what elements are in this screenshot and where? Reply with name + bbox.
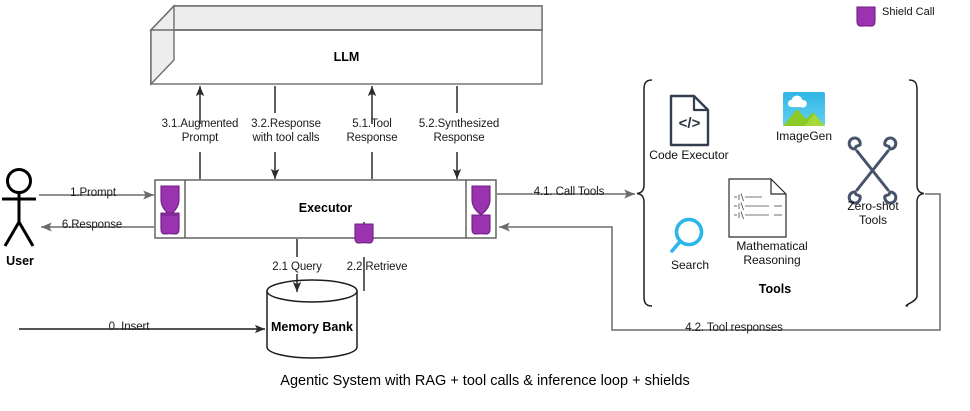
user-node-label: User bbox=[0, 254, 40, 268]
tools-brace-left bbox=[637, 80, 652, 306]
flow-label-synthesized-response: 5.2.Synthesized Response bbox=[405, 118, 513, 145]
formula-document-icon bbox=[729, 179, 786, 237]
shield-icon-executor-memory-bottom bbox=[355, 224, 373, 243]
tool-label-imagegen: ImageGen bbox=[769, 129, 839, 143]
tools-group-label: Tools bbox=[720, 282, 830, 296]
tool-label-mathematical-reasoning: Mathematical Reasoning bbox=[712, 239, 832, 267]
flow-label-response: 6.Response bbox=[46, 219, 138, 233]
memory-bank-node-label: Memory Bank bbox=[267, 320, 357, 334]
llm-node-label: LLM bbox=[151, 50, 542, 64]
flow-label-call-tools: 4.1. Call Tools bbox=[525, 186, 613, 200]
code-document-icon: </> bbox=[671, 96, 708, 145]
shield-icon-legend bbox=[857, 7, 875, 26]
flow-label-tool-response: 5.1.Tool Response bbox=[330, 118, 414, 145]
flow-label-retrieve: 2.2 Retrieve bbox=[331, 261, 423, 275]
tools-brace-right bbox=[906, 80, 924, 306]
user-stick-figure bbox=[2, 170, 36, 247]
shield-icon-executor-output-bottom bbox=[472, 215, 490, 234]
image-picture-icon bbox=[783, 92, 825, 126]
crossed-wrenches-icon bbox=[849, 138, 896, 203]
tool-label-search: Search bbox=[655, 258, 725, 272]
diagram-caption: Agentic System with RAG + tool calls & i… bbox=[0, 373, 970, 389]
flow-label-query: 2.1 Query bbox=[258, 261, 336, 275]
flow-label-response-with-tool-calls: 3.2.Response with tool calls bbox=[232, 118, 340, 145]
tool-label-zero-shot-tools: Zero-shot Tools bbox=[836, 199, 910, 227]
svg-text:</>: </> bbox=[679, 115, 701, 132]
legend-shield-label: Shield Call bbox=[882, 6, 935, 18]
flow-label-tool-responses: 4.2. Tool responses bbox=[672, 322, 796, 336]
magnifier-icon bbox=[672, 220, 702, 252]
shield-icon-executor-input-bottom bbox=[161, 213, 179, 234]
flow-label-insert: 0. Insert bbox=[74, 321, 184, 335]
diagram-canvas: </> bbox=[0, 0, 970, 411]
tool-label-code-executor: Code Executor bbox=[639, 148, 739, 162]
llm-node-shape bbox=[151, 6, 542, 84]
executor-node-label: Executor bbox=[185, 201, 466, 215]
flow-label-prompt: 1.Prompt bbox=[52, 187, 134, 201]
memory-bank-node-shape bbox=[267, 280, 357, 358]
